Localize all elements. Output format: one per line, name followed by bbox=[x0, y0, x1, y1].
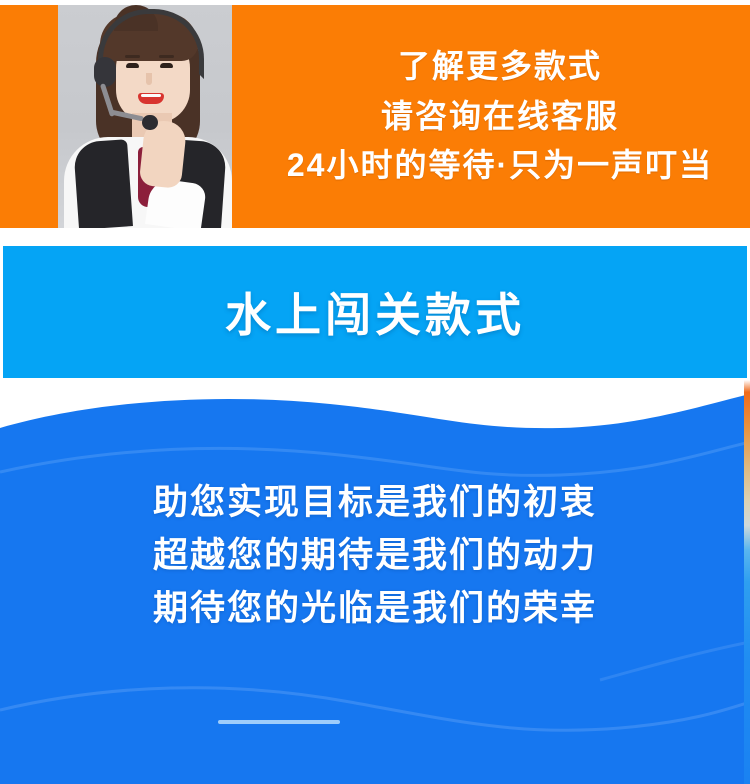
headset-earcup-icon bbox=[94, 57, 116, 87]
slogan-wave-section: 助您实现目标是我们的初衷 超越您的期待是我们的动力 期待您的光临是我们的荣幸 bbox=[0, 380, 750, 784]
service-banner-line-2: 请咨询在线客服 bbox=[381, 92, 619, 142]
customer-service-agent-photo bbox=[58, 5, 232, 228]
promo-page: 了解更多款式 请咨询在线客服 24小时的等待·只为一声叮当 水上闯关款式 助您实… bbox=[0, 0, 750, 784]
section-title-text: 水上闯关款式 bbox=[225, 279, 525, 345]
service-banner-line-1: 了解更多款式 bbox=[398, 42, 602, 92]
headset-microphone-icon bbox=[142, 115, 158, 130]
section-title-banner: 水上闯关款式 bbox=[3, 246, 747, 378]
agent-vest-left bbox=[73, 139, 133, 228]
right-edge-sliver bbox=[744, 380, 750, 784]
slogan-divider-rule bbox=[218, 720, 340, 724]
service-banner-line-3: 24小时的等待·只为一声叮当 bbox=[287, 141, 713, 191]
slogan-line-1: 助您实现目标是我们的初衷 bbox=[153, 476, 597, 529]
service-banner: 了解更多款式 请咨询在线客服 24小时的等待·只为一声叮当 bbox=[0, 5, 750, 228]
slogan-line-3: 期待您的光临是我们的荣幸 bbox=[153, 582, 597, 635]
slogan-text-block: 助您实现目标是我们的初衷 超越您的期待是我们的动力 期待您的光临是我们的荣幸 bbox=[0, 476, 750, 636]
agent-mouth-shape bbox=[138, 93, 164, 104]
slogan-line-2: 超越您的期待是我们的动力 bbox=[153, 529, 597, 582]
service-banner-text-block: 了解更多款式 请咨询在线客服 24小时的等待·只为一声叮当 bbox=[260, 5, 740, 228]
